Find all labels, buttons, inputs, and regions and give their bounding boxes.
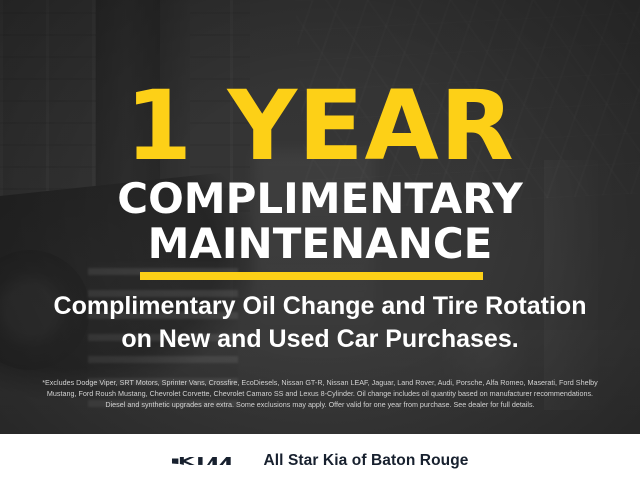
yellow-divider	[140, 272, 483, 280]
kia-logo-icon	[171, 451, 245, 471]
headline-line-1: COMPLIMENTARY	[117, 174, 522, 223]
disclaimer-line-3: Diesel and synthetic upgrades are extra.…	[14, 399, 626, 410]
disclaimer-text: *Excludes Dodge Viper, SRT Motors, Sprin…	[14, 377, 626, 410]
headline-year: 1 YEAR	[0, 78, 640, 174]
headline-subtitle: COMPLIMENTARY MAINTENANCE	[0, 176, 640, 267]
banner-content: 1 YEAR COMPLIMENTARY MAINTENANCE Complim…	[0, 0, 640, 488]
footer-bar: All Star Kia of Baton Rouge	[0, 434, 640, 488]
disclaimer-line-2: Mustang, Ford Roush Mustang, Chevrolet C…	[14, 388, 626, 399]
disclaimer-line-1: *Excludes Dodge Viper, SRT Motors, Sprin…	[14, 377, 626, 388]
promotional-banner: 1 YEAR COMPLIMENTARY MAINTENANCE Complim…	[0, 0, 640, 488]
offer-line-2: on New and Used Car Purchases.	[0, 323, 640, 356]
offer-line-1: Complimentary Oil Change and Tire Rotati…	[54, 292, 587, 320]
offer-description: Complimentary Oil Change and Tire Rotati…	[0, 290, 640, 356]
dealer-name: All Star Kia of Baton Rouge	[263, 452, 468, 470]
footer-branding: All Star Kia of Baton Rouge	[171, 451, 468, 471]
headline-line-2: MAINTENANCE	[0, 221, 640, 266]
